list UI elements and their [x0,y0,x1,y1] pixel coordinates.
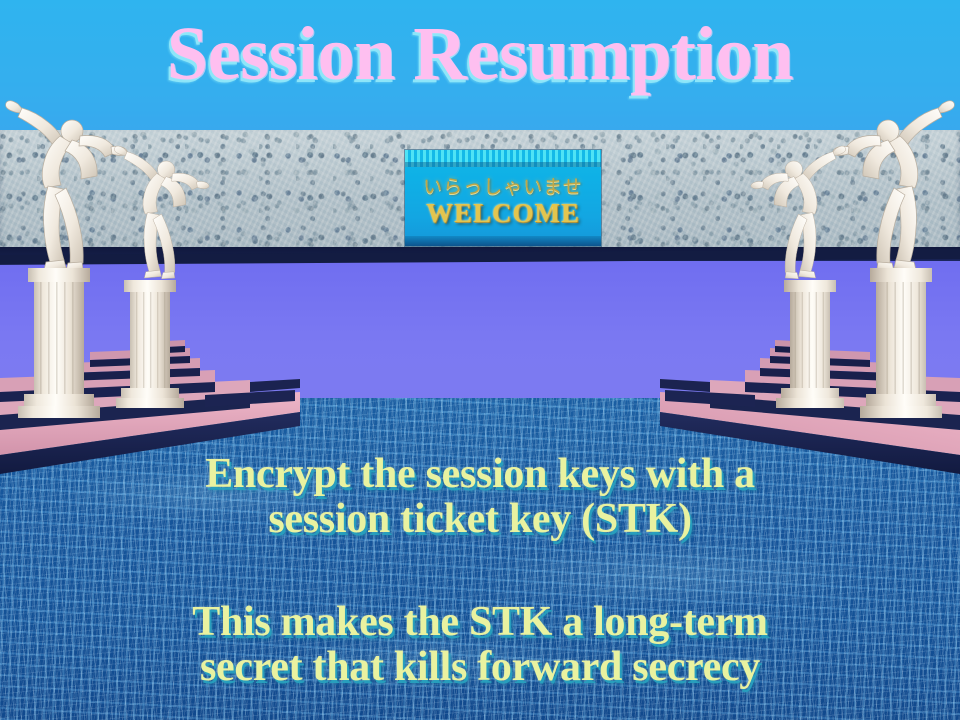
banner-kana-text: いらっしゃいませ [405,172,601,199]
doric-column-left-front [18,268,100,418]
statue-column-group-right [660,70,960,460]
welcome-banner: いらっしゃいませ WELCOME [405,150,601,246]
body-line: secret that kills forward secrecy [0,645,960,690]
body-line: session ticket key (STK) [0,497,960,542]
statue-column-group-left [0,70,300,460]
banner-bottom-edge [405,236,601,246]
discobolus-statue-left-back [114,146,209,279]
doric-column-left-back [116,280,184,408]
discobolus-statue-right-back [751,146,846,279]
discobolus-statue-left-front [6,101,128,271]
banner-fringe [405,150,601,167]
doric-column-right-front [860,268,942,418]
banner-welcome-text: WELCOME [405,198,601,229]
body-line: This makes the STK a long-term [0,600,960,645]
body-line: Encrypt the session keys with a [0,452,960,497]
slide-title: Session Resumption [10,16,951,92]
doric-column-right-back [776,280,844,408]
body-text-block-longterm-secret: This makes the STK a long-term secret th… [0,600,960,690]
discobolus-statue-right-front [833,101,955,271]
body-text-block-encrypt: Encrypt the session keys with a session … [0,452,960,542]
presentation-slide: いらっしゃいませ WELCOME [0,0,960,720]
